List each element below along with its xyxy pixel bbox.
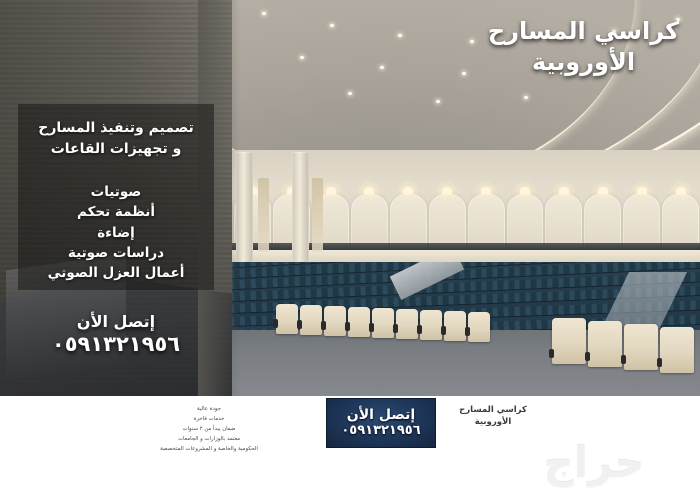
ceiling-downlight — [398, 34, 402, 37]
footer-bullet-quality: جودة عالية — [133, 404, 285, 414]
wall-pilaster — [292, 152, 309, 280]
footer-brand: كراسي المسارح الأوروبية — [438, 404, 548, 429]
theater-seat — [552, 318, 586, 364]
call-now-block[interactable]: إتصل الأن ٠٥٩١٣٢١٩٥٦ — [18, 312, 214, 358]
wall-ornament-panel — [258, 178, 269, 252]
theater-seat — [624, 324, 658, 370]
theater-seat — [660, 327, 694, 373]
theater-seat — [372, 308, 394, 338]
service-item-acoustic-studies: دراسات صوتية — [18, 243, 214, 263]
poster-title-line1: كراسي المسارح — [481, 16, 686, 47]
footer-call-now-badge[interactable]: إتصل الأن ٠٥٩١٣٢١٩٥٦ — [326, 398, 436, 448]
ceiling-downlight — [348, 92, 352, 95]
ceiling-downlight — [330, 24, 334, 27]
services-headline-line2: و تجهيزات القاعات — [18, 139, 214, 160]
theater-seat — [300, 305, 322, 335]
call-now-phone[interactable]: ٠٥٩١٣٢١٩٥٦ — [18, 331, 214, 358]
ceiling-downlight — [462, 72, 466, 75]
poster-title: كراسي المسارح الأوروبية — [481, 16, 686, 77]
services-box: تصميم وتنفيذ المسارح و تجهيزات القاعات ص… — [18, 104, 214, 290]
haraj-watermark: حراج — [498, 437, 690, 489]
services-list: صوتيات أنظمة تحكم إضاءة دراسات صوتية أعم… — [18, 182, 214, 283]
theater-seat — [420, 310, 442, 340]
footer-bullet-projects: الحكومية والخاصة و المشروعات المتخصصة — [133, 444, 285, 454]
theater-seat — [588, 321, 622, 367]
ceiling-downlight — [262, 12, 266, 15]
theater-seat — [348, 307, 370, 337]
theater-seat — [468, 312, 490, 342]
theater-seat — [324, 306, 346, 336]
service-item-lighting: إضاءة — [18, 223, 214, 243]
service-item-audio: صوتيات — [18, 182, 214, 202]
footer-bullet-warranty: ضمان يبدأ من ٢ سنوات — [133, 424, 285, 434]
call-now-label: إتصل الأن — [18, 312, 214, 331]
footer-bullet-accredited: معتمد بالوزارات و الجامعات — [133, 434, 285, 444]
footer-bullet-list: جودة عالية خدمات فاخرة ضمان يبدأ من ٢ سن… — [133, 404, 285, 454]
footer-brand-line1: كراسي المسارح — [438, 404, 548, 416]
footer-badge-label: إتصل الأن — [347, 408, 415, 423]
theater-seat — [396, 309, 418, 339]
ceiling-downlight — [300, 56, 304, 59]
ceiling-downlight — [436, 100, 440, 103]
service-item-control: أنظمة تحكم — [18, 202, 214, 222]
service-item-sound-insulation: أعمال العزل الصوتي — [18, 263, 214, 283]
footer-badge-phone[interactable]: ٠٥٩١٣٢١٩٥٦ — [341, 423, 420, 439]
services-headline-line1: تصميم وتنفيذ المسارح — [18, 118, 214, 139]
ceiling-downlight — [470, 40, 474, 43]
footer-bullet-services: خدمات فاخرة — [133, 414, 285, 424]
ceiling-downlight — [524, 96, 528, 99]
advertisement-poster: كراسي المسارح الأوروبية تصميم وتنفيذ الم… — [0, 0, 700, 496]
services-headline: تصميم وتنفيذ المسارح و تجهيزات القاعات — [18, 118, 214, 160]
wall-ornament-panel — [312, 178, 323, 252]
ceiling-downlight — [380, 66, 384, 69]
footer-brand-line2: الأوروبية — [438, 416, 548, 428]
theater-seat — [444, 311, 466, 341]
poster-title-line2: الأوروبية — [481, 47, 686, 78]
theater-seat — [276, 304, 298, 334]
